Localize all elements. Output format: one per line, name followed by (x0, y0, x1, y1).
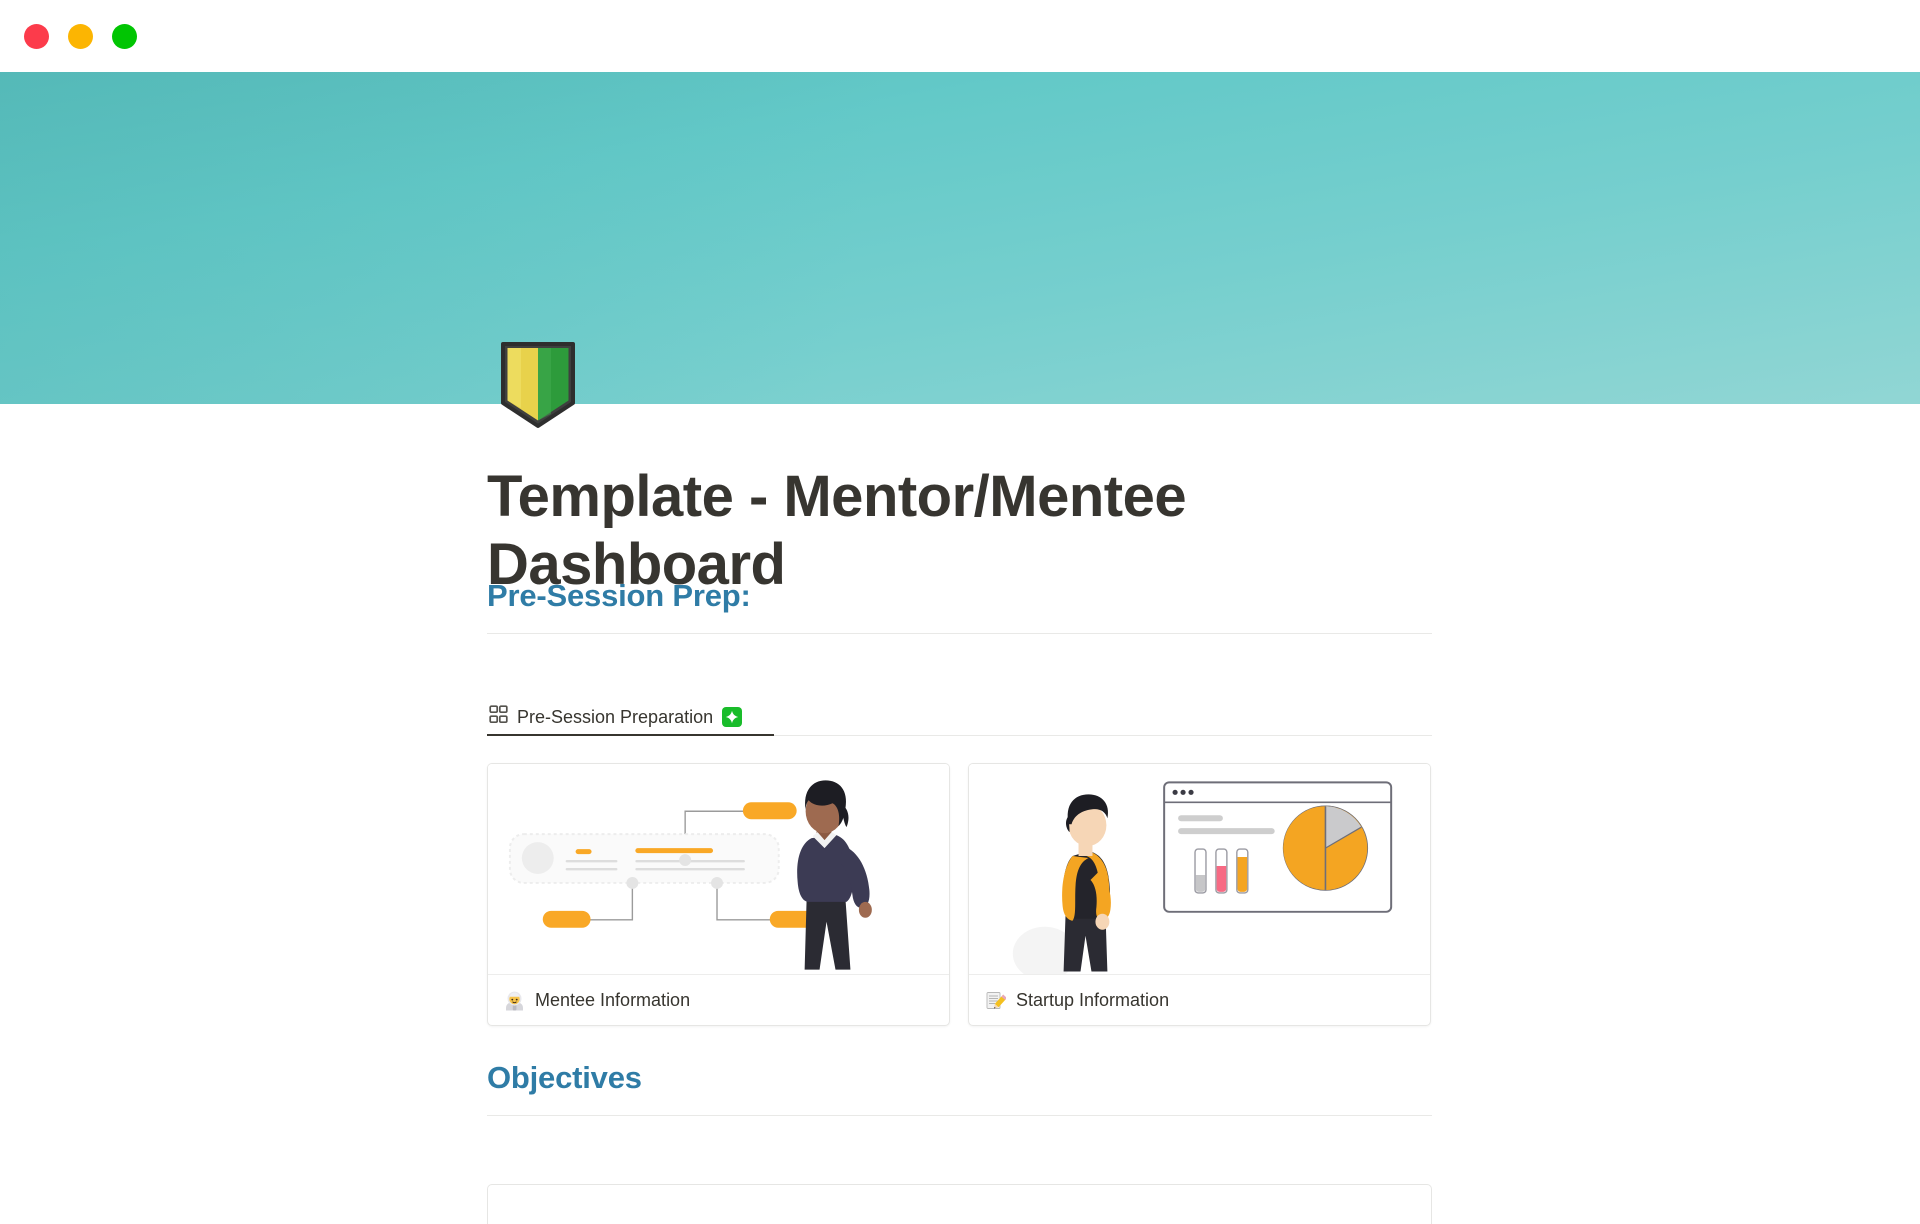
tab-pre-session-preparation[interactable]: Pre-Session Preparation (487, 700, 747, 734)
heading-divider-objectives (487, 1115, 1432, 1116)
card-title: Startup Information (1016, 990, 1169, 1011)
database-view-tabs: Pre-Session Preparation (487, 700, 1432, 736)
shoshinsha-badge-icon[interactable] (499, 341, 577, 429)
page-cover-image[interactable] (0, 72, 1920, 404)
card-footer-startup: Startup Information (969, 974, 1430, 1025)
memo-emoji-icon (985, 990, 1006, 1011)
objectives-block-partial[interactable] (487, 1184, 1432, 1224)
card-illustration-mentee (488, 764, 949, 974)
gallery-grid-icon (489, 705, 508, 729)
green-sparkle-badge-icon (722, 707, 742, 727)
astronaut-emoji-icon (504, 990, 525, 1011)
heading-divider-pre-session (487, 633, 1432, 634)
card-illustration-startup (969, 764, 1430, 974)
notion-page: Template - Mentor/Mentee Dashboard Pre-S… (0, 0, 1920, 1200)
gallery-view: Mentee Information (487, 763, 1432, 1026)
card-title: Mentee Information (535, 990, 690, 1011)
heading-objectives[interactable]: Objectives (487, 1060, 1432, 1096)
card-footer-mentee: Mentee Information (488, 974, 949, 1025)
gallery-card-mentee-information[interactable]: Mentee Information (487, 763, 950, 1026)
tab-active-underline (487, 734, 774, 736)
gallery-card-startup-information[interactable]: Startup Information (968, 763, 1431, 1026)
heading-pre-session-prep[interactable]: Pre-Session Prep: (487, 578, 1432, 614)
tab-label: Pre-Session Preparation (517, 707, 713, 728)
